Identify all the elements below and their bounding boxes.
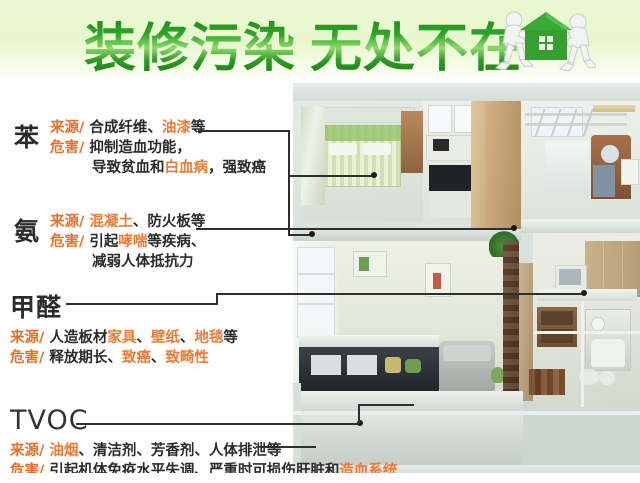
pollutant-name-ammonia: 氨 — [14, 212, 40, 248]
page-title-part1: 装修污染 — [84, 19, 296, 79]
pollutant-name-benzene: 苯 — [14, 118, 40, 154]
page-title: 装修污染无处不在 — [84, 6, 522, 81]
leader-line-benzene-vert — [288, 130, 290, 235]
formaldehyde-hazard-line: 危害/ 释放期长、致癌、致畸性 — [10, 348, 238, 368]
pollutant-name-formaldehyde: 甲醛 — [10, 288, 238, 324]
page-title-part2: 无处不在 — [310, 19, 522, 79]
leader-dot-formaldehyde — [581, 290, 587, 296]
leader-dot-benzene-1 — [371, 172, 377, 178]
benzene-hazard-line-2: 导致贫血和白血病，强致癌 — [50, 158, 266, 178]
benzene-hazard-line-1: 危害/ 抑制造血功能， — [50, 138, 266, 158]
bottom-margin — [0, 473, 640, 483]
ammonia-hazard-line-2: 减弱人体抵抗力 — [50, 252, 205, 272]
pollutant-formaldehyde: 甲醛 来源/ 人造板材家具、壁纸、地毯等 危害/ 释放期长、致癌、致畸性 — [10, 288, 238, 368]
benzene-source-line: 来源/ 合成纤维、油漆等 — [50, 118, 266, 138]
leader-dot-benzene-2 — [309, 231, 315, 237]
pollutant-name-tvoc: TVOC — [10, 405, 397, 436]
leader-line-benzene-branch1 — [288, 175, 374, 177]
leader-dot-ammonia — [511, 225, 517, 231]
movers-carrying-house-icon — [492, 4, 596, 76]
ammonia-hazard-line-1: 危害/ 引起哮喘等疾病、 — [50, 232, 205, 252]
leader-line-formaldehyde-top — [216, 293, 584, 295]
tvoc-source-line: 来源/ 油烟、清洁剂、芳香剂、人体排泄等 — [10, 441, 397, 461]
leader-line-ammonia — [196, 228, 514, 230]
pollutant-tvoc: TVOC 来源/ 油烟、清洁剂、芳香剂、人体排泄等 危害/ 引起机体免疫水平失调… — [10, 405, 397, 481]
pollutant-benzene: 苯 来源/ 合成纤维、油漆等 危害/ 抑制造血功能， 导致贫血和白血病，强致癌 — [14, 118, 266, 178]
ammonia-source-line: 来源/ 混凝土、防火板等 — [50, 212, 205, 232]
header-band: 装修污染无处不在 — [0, 0, 640, 78]
pollutant-ammonia: 氨 来源/ 混凝土、防火板等 危害/ 引起哮喘等疾病、 减弱人体抵抗力 — [14, 212, 205, 272]
formaldehyde-source-line: 来源/ 人造板材家具、壁纸、地毯等 — [10, 328, 238, 348]
